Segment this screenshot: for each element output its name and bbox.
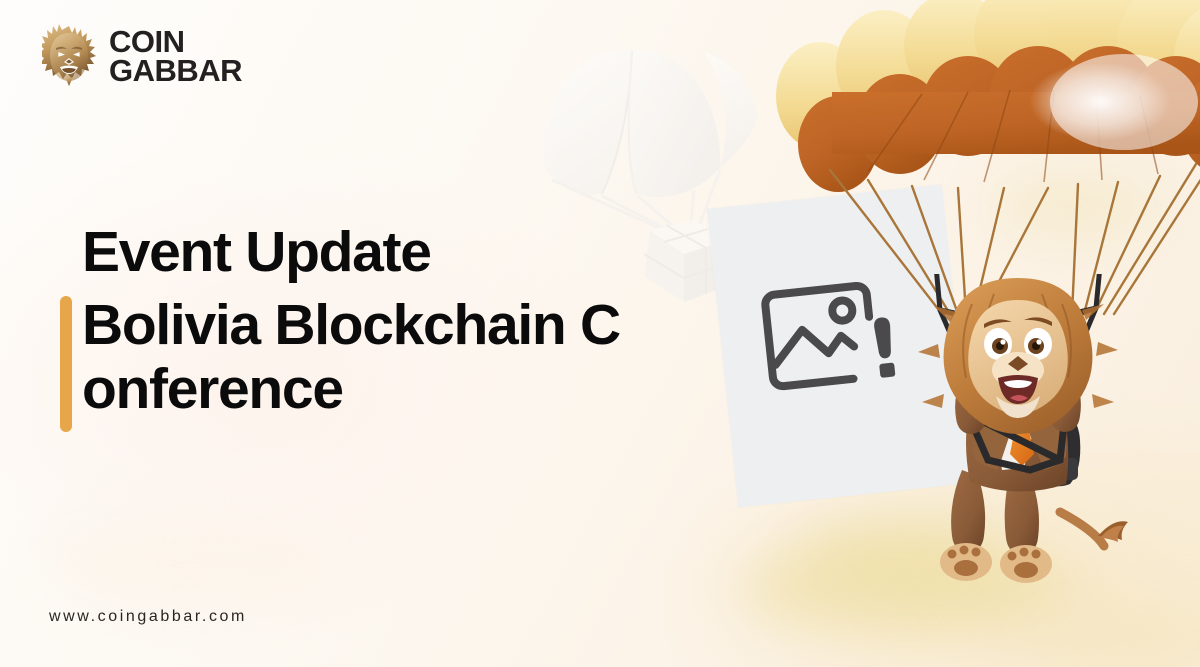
broken-image-icon xyxy=(751,267,911,402)
cloud-bottom-center-2 xyxy=(800,520,1000,590)
headline-block: Event Update Bolivia Blockchain Conferen… xyxy=(60,222,626,422)
cloud-mid-right xyxy=(990,175,1160,237)
event-banner: COIN GABBAR Event Update Bolivia Blockch… xyxy=(0,0,1200,667)
brand-logo[interactable]: COIN GABBAR xyxy=(42,22,242,92)
accent-bar xyxy=(60,296,72,432)
brand-wordmark: COIN GABBAR xyxy=(109,28,242,86)
headline-eyebrow: Event Update xyxy=(60,222,626,282)
cloud-lower-right xyxy=(1010,600,1200,667)
page-title: Bolivia Blockchain Conference xyxy=(82,294,626,422)
footer-website-url[interactable]: www.coingabbar.com xyxy=(49,608,247,626)
brand-name-line2: GABBAR xyxy=(109,57,242,86)
headline-title-wrap: Bolivia Blockchain Conference xyxy=(60,294,626,422)
lion-head-icon xyxy=(42,22,96,92)
cloud-bottom-center xyxy=(740,540,1070,636)
cloud-left-low xyxy=(40,520,340,610)
broken-image-placeholder xyxy=(707,184,973,507)
